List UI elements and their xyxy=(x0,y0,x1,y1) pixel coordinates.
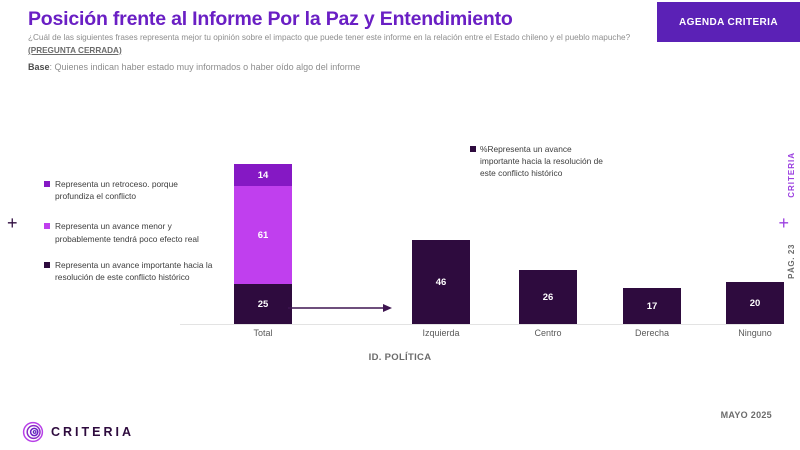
footer-date: MAYO 2025 xyxy=(721,410,772,420)
bar-segment-avance-importante[interactable]: 17 xyxy=(623,288,681,324)
legend-swatch-icon xyxy=(44,181,50,187)
cat-label-izquierda: Izquierda xyxy=(422,328,459,338)
bar-ninguno[interactable]: 20 xyxy=(726,282,784,324)
footer-brand: CRITERIA xyxy=(22,421,134,443)
question-type-tag: (PREGUNTA CERRADA) xyxy=(28,46,122,55)
bar-total-stacked[interactable]: 14 61 25 xyxy=(234,164,292,324)
vertical-page-number: PÁG. 23 xyxy=(787,244,796,279)
bar-izquierda[interactable]: 46 xyxy=(412,240,470,324)
cat-label-centro: Centro xyxy=(534,328,561,338)
bar-segment-retroceso[interactable]: 14 xyxy=(234,164,292,186)
bar-segment-avance-importante[interactable]: 46 xyxy=(412,240,470,324)
bar-value-label: 20 xyxy=(750,298,761,309)
vertical-brand-label: CRITERIA xyxy=(787,152,796,198)
chart-plot-area: 14 61 25 46 26 17 2 xyxy=(180,120,760,325)
cat-label-ninguno: Ninguno xyxy=(738,328,772,338)
footer-brand-label: CRITERIA xyxy=(51,425,134,439)
base-label: Base xyxy=(28,62,50,72)
bar-value-label: 25 xyxy=(258,299,269,310)
bar-value-label: 46 xyxy=(436,277,447,288)
bar-value-label: 17 xyxy=(647,301,658,312)
cat-label-total: Total xyxy=(253,328,272,338)
cat-label-derecha: Derecha xyxy=(635,328,669,338)
slide-root: Posición frente al Informe Por la Paz y … xyxy=(0,0,800,450)
bar-centro[interactable]: 26 xyxy=(519,270,577,324)
plus-decor-left-icon: + xyxy=(7,214,18,232)
base-text: : Quienes indican haber estado muy infor… xyxy=(50,62,361,72)
x-axis-title: ID. POLÍTICA xyxy=(0,352,800,363)
bar-value-label: 14 xyxy=(258,170,269,181)
bar-segment-avance-importante[interactable]: 25 xyxy=(234,284,292,324)
bar-value-label: 26 xyxy=(543,292,554,303)
bar-segment-avance-importante[interactable]: 26 xyxy=(519,270,577,324)
bar-segment-avance-menor[interactable]: 61 xyxy=(234,186,292,284)
question-subtitle: ¿Cuál de las siguientes frases represent… xyxy=(28,32,648,57)
plus-decor-right-icon: + xyxy=(778,214,789,232)
bar-derecha[interactable]: 17 xyxy=(623,288,681,324)
bar-segment-avance-importante[interactable]: 20 xyxy=(726,282,784,324)
page-title: Posición frente al Informe Por la Paz y … xyxy=(28,8,513,31)
legend-swatch-icon xyxy=(44,223,50,229)
legend-swatch-icon xyxy=(44,262,50,268)
agenda-criteria-badge[interactable]: AGENDA CRITERIA xyxy=(657,2,800,42)
base-note: Base: Quienes indican haber estado muy i… xyxy=(28,62,360,72)
arrow-annotation-icon xyxy=(288,300,393,310)
chart-baseline xyxy=(180,324,760,325)
criteria-logo-icon xyxy=(22,421,44,443)
chart-category-axis: Total Izquierda Centro Derecha Ninguno xyxy=(180,328,760,344)
question-text: ¿Cuál de las siguientes frases represent… xyxy=(28,33,630,42)
bar-value-label: 61 xyxy=(258,230,269,241)
